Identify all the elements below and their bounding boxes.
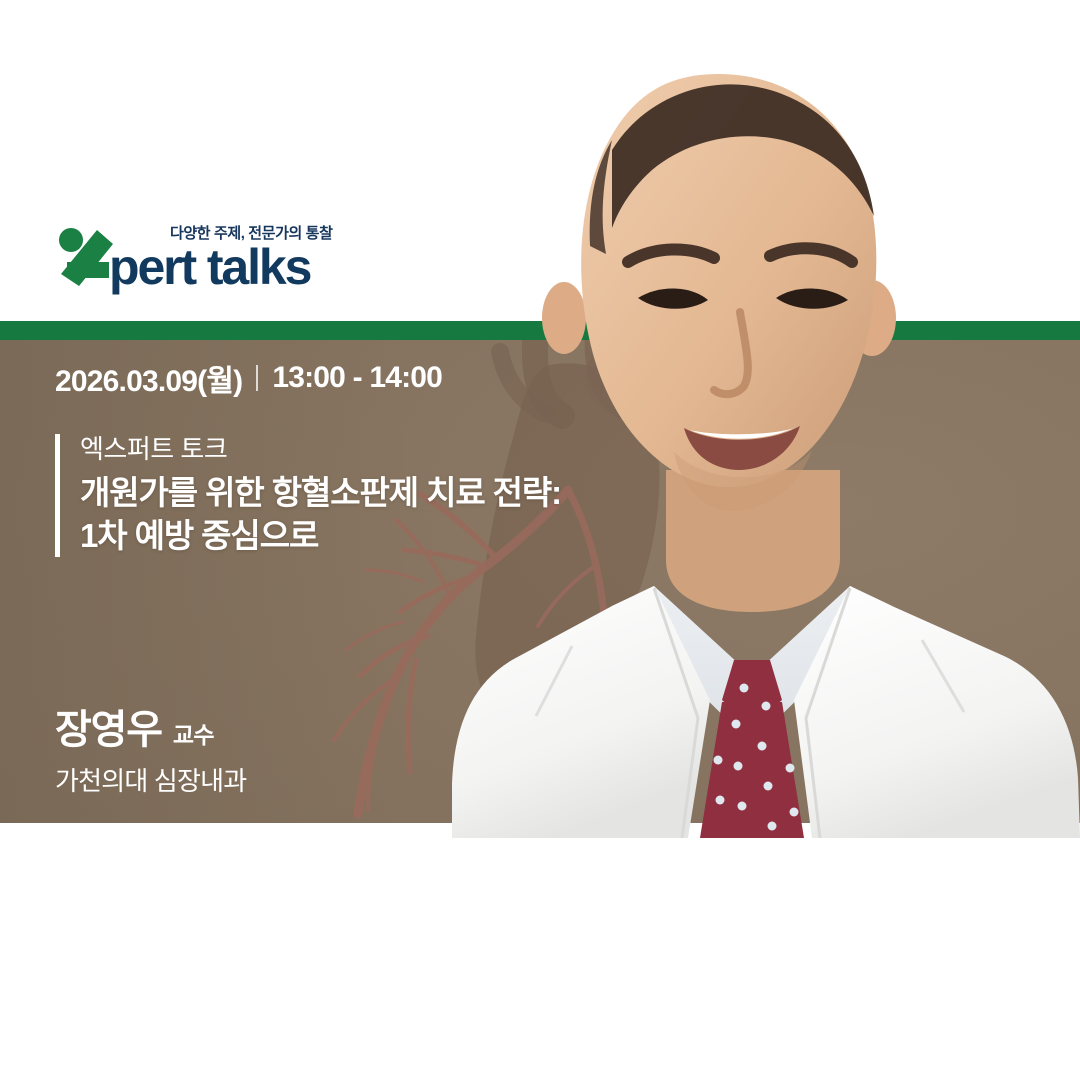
session-date: 2026.03.09(월) [55,356,242,400]
logo-wordmark: pert talks [109,238,310,296]
speaker-block: 장영우 교수 가천의대 심장내과 [55,697,246,798]
schedule-separator [256,365,258,391]
speaker-portrait [452,0,1080,838]
webinar-banner: 다양한 주제, 전문가의 통찰 pert talks 2026.03.09(월)… [0,0,1080,1080]
speaker-name-line: 장영우 교수 [55,697,246,755]
xpert-talks-logo: 다양한 주제, 전문가의 통찰 pert talks [57,222,397,294]
speaker-affiliation: 가천의대 심장내과 [55,761,246,798]
speaker-name: 장영우 [55,697,162,755]
schedule-strip: 2026.03.09(월) 13:00 - 14:00 [55,356,442,400]
session-time: 13:00 - 14:00 [272,361,442,395]
speaker-role: 교수 [173,716,214,750]
